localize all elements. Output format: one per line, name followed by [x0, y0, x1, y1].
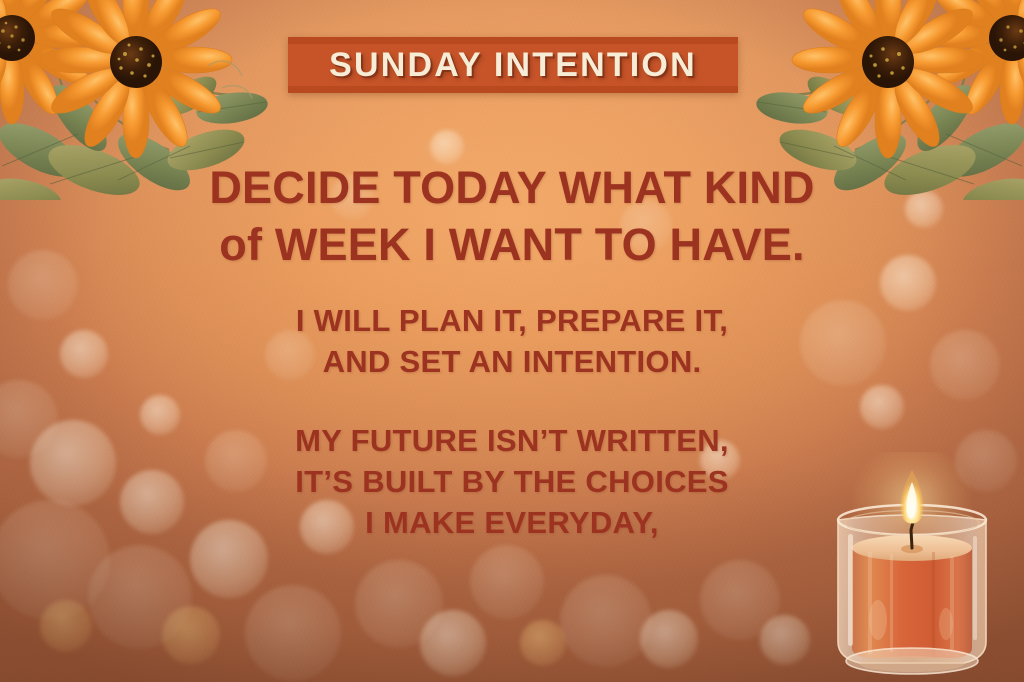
headline-line-2-lowercase: of — [219, 219, 275, 270]
poster: SUNDAY INTENTION DECIDE TODAY WHAT KIND … — [0, 0, 1024, 682]
headline-line-1: DECIDE TODAY WHAT KIND — [0, 160, 1024, 215]
stanza-3-line-3: I MAKE EVERYDAY, — [0, 502, 1024, 543]
headline-line-2: of WEEK I WANT TO HAVE. — [0, 217, 1024, 272]
stanza-3-line-1: MY FUTURE ISN’T WRITTEN, — [0, 420, 1024, 461]
headline: DECIDE TODAY WHAT KIND of WEEK I WANT TO… — [0, 160, 1024, 272]
stanza-2-line-1: I WILL PLAN IT, PREPARE IT, — [0, 300, 1024, 341]
stanza-2-line-2: AND SET AN INTENTION. — [0, 341, 1024, 382]
headline-line-2-rest: WEEK I WANT TO HAVE. — [275, 219, 805, 270]
banner-title: SUNDAY INTENTION — [329, 46, 697, 85]
stanza-3: MY FUTURE ISN’T WRITTEN, IT’S BUILT BY T… — [0, 420, 1024, 543]
stanza-3-line-2: IT’S BUILT BY THE CHOICES — [0, 461, 1024, 502]
stanza-2: I WILL PLAN IT, PREPARE IT, AND SET AN I… — [0, 300, 1024, 382]
banner: SUNDAY INTENTION — [288, 37, 738, 93]
